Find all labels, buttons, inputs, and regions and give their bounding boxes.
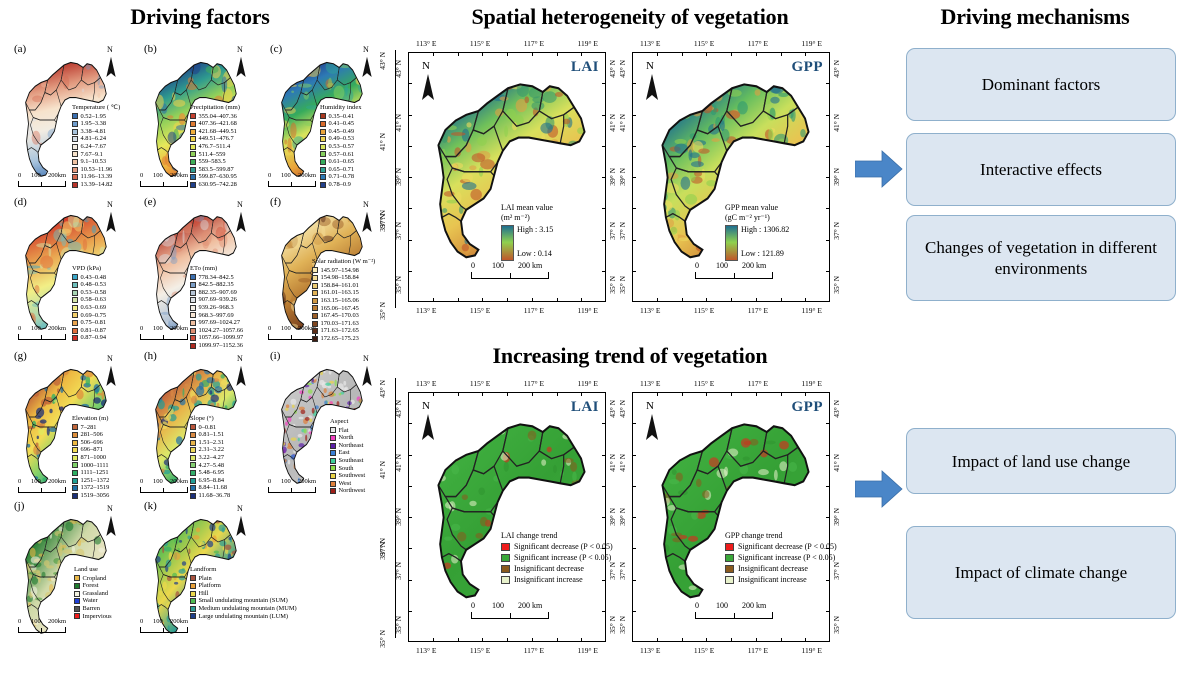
axis-tick bbox=[756, 52, 757, 56]
axis-tick bbox=[826, 208, 830, 209]
legend-label: 506–696 bbox=[81, 439, 103, 447]
scale-bar: 0100200km bbox=[268, 325, 316, 340]
north-arrow-icon: N bbox=[104, 357, 118, 387]
legend-swatch bbox=[72, 335, 78, 341]
legend-label: 0.43–0.48 bbox=[81, 274, 107, 282]
north-arrow-icon: N bbox=[234, 48, 248, 78]
legend-label: 778.34–842.5 bbox=[199, 274, 234, 282]
scale-bar-ruler bbox=[18, 181, 66, 187]
legend-swatch bbox=[190, 282, 196, 288]
big-map-gpp_mean: GPPNGPP mean value(gC m⁻² yr⁻¹)High : 13… bbox=[632, 52, 830, 302]
legend-row: 10.53–11.96 bbox=[72, 166, 120, 174]
legend-swatch bbox=[330, 465, 336, 471]
lon-tick: 113° E bbox=[416, 39, 436, 48]
north-arrow-icon: N bbox=[360, 357, 374, 387]
legend-swatch bbox=[72, 167, 78, 173]
lat-tick: 37° N bbox=[609, 222, 617, 240]
legend-swatch bbox=[72, 159, 78, 165]
legend-label: Significant increase (P < 0.05) bbox=[738, 553, 835, 563]
legend-title: Slope (°) bbox=[190, 415, 230, 423]
axis-tick bbox=[731, 392, 732, 396]
legend-row: Plain bbox=[190, 575, 297, 583]
lat-tick: 43° N bbox=[833, 60, 841, 78]
scale-bar-labels: 0100200km bbox=[18, 618, 66, 626]
figure-canvas: Driving factors Spatial heterogeneity of… bbox=[0, 0, 1199, 674]
lat-tick: 35° N bbox=[379, 302, 387, 320]
scale-label: 200km bbox=[48, 325, 66, 332]
lon-tick: 115° E bbox=[694, 379, 714, 388]
scale-tick bbox=[41, 335, 42, 339]
scale-tick bbox=[291, 488, 292, 492]
legend-row: 170.03–171.63 bbox=[312, 320, 375, 328]
longitude-axis-top-lai_mean: 113° E115° E117° E119° E bbox=[416, 39, 598, 48]
legend-row: Water bbox=[74, 597, 112, 605]
lat-tick: 35° N bbox=[619, 616, 627, 634]
scale-bar-labels: 0100200km bbox=[268, 478, 316, 486]
legend-label: 939.26–968.3 bbox=[199, 304, 234, 312]
north-arrow-icon: N bbox=[419, 63, 437, 101]
legend-row: 907.69–939.26 bbox=[190, 296, 243, 304]
legend-swatch bbox=[190, 440, 196, 446]
latitude-axis-left-gpp_trend: 43° N41° N39° N37° N35° N bbox=[619, 400, 627, 634]
legend-swatch bbox=[725, 554, 734, 562]
north-arrow-icon: N bbox=[360, 48, 374, 78]
legend-label: Northwest bbox=[339, 487, 366, 495]
axis-tick bbox=[408, 455, 412, 456]
lat-tick: 39° N bbox=[609, 168, 617, 186]
lon-tick: 119° E bbox=[802, 379, 822, 388]
legend-high-label: High : 3.15 bbox=[517, 225, 553, 235]
panel-tag-j: (j) bbox=[14, 500, 24, 512]
legend-swatch bbox=[190, 159, 196, 165]
axis-tick bbox=[482, 638, 483, 642]
scale-bar: 0100200km bbox=[140, 172, 188, 187]
mechanism-box-2[interactable]: Interactive effects bbox=[906, 133, 1176, 206]
legend-label: 842.5–882.35 bbox=[199, 281, 234, 289]
map-legend: Solar radiation (W m⁻²)145.97–154.98154.… bbox=[312, 258, 375, 343]
lon-tick: 115° E bbox=[470, 646, 490, 655]
heading-spatial-heterogeneity: Spatial heterogeneity of vegetation bbox=[395, 4, 865, 30]
legend-label: Hill bbox=[199, 590, 209, 598]
map-variable-label: LAI bbox=[571, 59, 599, 76]
axis-tick bbox=[826, 548, 830, 549]
legend-swatch bbox=[190, 312, 196, 318]
legend-swatch bbox=[74, 613, 80, 619]
legend-row: Insignificant increase bbox=[501, 574, 613, 585]
scale-bar: 0100200km bbox=[140, 618, 188, 633]
legend-row: East bbox=[330, 449, 365, 457]
legend-row: 1.51–2.31 bbox=[190, 439, 230, 447]
legend-swatch bbox=[72, 424, 78, 430]
legend-gradient bbox=[501, 225, 514, 261]
legend-row: 882.35–907.69 bbox=[190, 289, 243, 297]
legend-label: 559–583.5 bbox=[199, 158, 226, 166]
impact-box-1[interactable]: Impact of land use change bbox=[906, 428, 1176, 494]
scale-label: 0 bbox=[140, 478, 143, 485]
map-legend-gpp_trend: GPP change trendSignificant decrease (P … bbox=[725, 531, 837, 585]
axis-tick bbox=[657, 392, 658, 396]
axis-tick bbox=[532, 52, 533, 56]
lon-tick: 113° E bbox=[416, 379, 436, 388]
north-arrow-label: N bbox=[107, 46, 113, 54]
legend-swatch bbox=[190, 182, 196, 188]
legend-swatch bbox=[190, 328, 196, 334]
map-legend: ETo (mm)778.34–842.5842.5–882.35882.35–9… bbox=[190, 265, 243, 350]
impact-box-2[interactable]: Impact of climate change bbox=[906, 526, 1176, 619]
axis-tick bbox=[632, 240, 636, 241]
map-variable-label: LAI bbox=[571, 399, 599, 416]
legend-swatch bbox=[72, 121, 78, 127]
longitude-axis-top-lai_trend: 113° E115° E117° E119° E bbox=[416, 379, 598, 388]
left-block-lat-axis-bottom: 37° N 35° N bbox=[379, 538, 387, 648]
legend-label: Insignificant increase bbox=[514, 575, 583, 585]
legend-swatch bbox=[320, 144, 326, 150]
legend-label: 871–1000 bbox=[81, 454, 107, 462]
lat-tick: 37° N bbox=[619, 222, 627, 240]
lat-tick: 39° N bbox=[833, 508, 841, 526]
scale-bar-labels: 0100200km bbox=[268, 325, 316, 333]
legend-row: 158.84–161.01 bbox=[312, 282, 375, 290]
legend-swatch bbox=[190, 613, 196, 619]
axis-tick bbox=[706, 638, 707, 642]
axis-tick bbox=[581, 392, 582, 396]
legend-row: 997.69–1024.27 bbox=[190, 319, 243, 327]
legend-swatch bbox=[320, 121, 326, 127]
scale-bar-ruler bbox=[268, 487, 316, 493]
lon-tick: 119° E bbox=[802, 39, 822, 48]
legend-row: 506–696 bbox=[72, 439, 109, 447]
legend-row: 1251–1372 bbox=[72, 477, 109, 485]
legend-swatch bbox=[320, 113, 326, 119]
legend-label: 1519–3056 bbox=[81, 492, 110, 500]
axis-tick bbox=[781, 298, 782, 302]
latitude-axis-right-gpp_trend: 43° N41° N39° N37° N35° N bbox=[833, 400, 841, 634]
scale-bar: 0100200 km bbox=[695, 261, 781, 279]
legend-row: 5.48–6.95 bbox=[190, 469, 230, 477]
axis-tick bbox=[602, 548, 606, 549]
legend-label: 0.63–0.69 bbox=[81, 304, 107, 312]
legend-label: 421.68–449.51 bbox=[199, 128, 237, 136]
scale-label: 100 bbox=[281, 325, 291, 332]
latitude-ticks-left bbox=[408, 392, 412, 642]
legend-label: 1.95–3.38 bbox=[81, 120, 107, 128]
legend-label: 511.4–559 bbox=[199, 151, 226, 159]
legend-row: Southwest bbox=[330, 472, 365, 480]
lat-tick: 35° N bbox=[609, 276, 617, 294]
lat-tick: 37° N bbox=[833, 562, 841, 580]
legend-row: 3.38–4.81 bbox=[72, 128, 120, 136]
lat-tick: 39° N bbox=[609, 508, 617, 526]
latitude-axis-left-lai_trend: 43° N41° N39° N37° N35° N bbox=[395, 400, 403, 634]
legend-label: 0.52–1.95 bbox=[81, 113, 107, 121]
heading-increasing-trend: Increasing trend of vegetation bbox=[430, 343, 830, 369]
legend-swatch bbox=[320, 182, 326, 188]
latitude-axis-right-lai_mean: 43° N41° N39° N37° N35° N bbox=[609, 60, 617, 294]
legend-row: 0.57–0.61 bbox=[320, 151, 362, 159]
legend-swatch bbox=[312, 267, 318, 273]
axis-tick bbox=[557, 392, 558, 396]
legend-label: 0.87–0.94 bbox=[81, 334, 107, 342]
legend-label: 407.36–421.68 bbox=[199, 120, 237, 128]
scale-bar: 0100200km bbox=[268, 172, 316, 187]
axis-tick bbox=[408, 177, 412, 178]
scale-label: 100 bbox=[716, 261, 728, 270]
north-arrow-icon: N bbox=[643, 63, 661, 101]
lat-tick: 35° N bbox=[619, 276, 627, 294]
axis-tick bbox=[826, 146, 830, 147]
legend-row: 172.65–175.23 bbox=[312, 335, 375, 343]
scale-bar-labels: 0100200km bbox=[18, 172, 66, 180]
legend-label: 1.51–2.31 bbox=[199, 439, 225, 447]
mechanism-box-3[interactable]: Changes of vegetation in different envir… bbox=[906, 215, 1176, 301]
scale-bar-ruler bbox=[18, 627, 66, 633]
legend-row: 842.5–882.35 bbox=[190, 281, 243, 289]
scale-label: 100 bbox=[153, 618, 163, 625]
scale-bar-labels: 0100200km bbox=[18, 325, 66, 333]
legend-swatch bbox=[190, 598, 196, 604]
axis-tick bbox=[581, 52, 582, 56]
lat-tick: 41° N bbox=[379, 133, 387, 151]
north-arrow-label: N bbox=[107, 355, 113, 363]
axis-tick bbox=[826, 611, 830, 612]
lon-tick: 119° E bbox=[802, 306, 822, 315]
scale-label: 200km bbox=[298, 478, 316, 485]
longitude-axis-top-gpp_mean: 113° E115° E117° E119° E bbox=[640, 39, 822, 48]
legend-swatch bbox=[312, 290, 318, 296]
axis-tick bbox=[433, 392, 434, 396]
legend-label: 7.67–9.1 bbox=[81, 151, 103, 159]
heading-driving-factors: Driving factors bbox=[70, 4, 330, 30]
legend-label: 0.53–0.57 bbox=[329, 143, 355, 151]
axis-tick bbox=[433, 638, 434, 642]
legend-swatch bbox=[72, 305, 78, 311]
lat-tick: 35° N bbox=[395, 276, 403, 294]
scale-label: 0 bbox=[140, 325, 143, 332]
legend-swatch bbox=[320, 129, 326, 135]
legend-low-label: Low : 121.89 bbox=[741, 249, 789, 259]
lat-tick: 35° N bbox=[395, 616, 403, 634]
legend-row: 6.24–7.67 bbox=[72, 143, 120, 151]
mechanism-box-label: Changes of vegetation in different envir… bbox=[915, 237, 1167, 279]
legend-swatch bbox=[190, 575, 196, 581]
legend-swatch bbox=[190, 290, 196, 296]
legend-swatch bbox=[725, 543, 734, 551]
scale-bar-ruler bbox=[471, 612, 549, 619]
legend-swatch bbox=[725, 576, 734, 584]
axis-tick bbox=[781, 52, 782, 56]
legend-swatch bbox=[501, 543, 510, 551]
legend-title: ETo (mm) bbox=[190, 265, 243, 273]
axis-tick bbox=[408, 611, 412, 612]
scale-label: 0 bbox=[695, 261, 699, 270]
scale-bar: 0100200 km bbox=[471, 261, 557, 279]
legend-swatch bbox=[72, 136, 78, 142]
legend-row: 1057.66–1099.97 bbox=[190, 334, 243, 342]
longitude-ticks-bottom bbox=[408, 638, 606, 642]
lat-tick: 41° N bbox=[609, 114, 617, 132]
lon-tick: 113° E bbox=[640, 646, 660, 655]
axis-tick bbox=[632, 177, 636, 178]
scale-label: 100 bbox=[31, 172, 41, 179]
axis-tick bbox=[408, 146, 412, 147]
legend-label: 0.75–0.81 bbox=[81, 319, 107, 327]
legend-label: 10.53–11.96 bbox=[81, 166, 113, 174]
legend-row: South bbox=[330, 465, 365, 473]
left-block-lat-axis-lower: 43° N 41° N 39° N bbox=[379, 380, 387, 560]
axis-tick bbox=[408, 271, 412, 272]
scale-label: 200km bbox=[170, 618, 188, 625]
legend-gradient-labels: High : 1306.82Low : 121.89 bbox=[741, 225, 789, 259]
axis-tick bbox=[602, 208, 606, 209]
legend-swatch bbox=[72, 320, 78, 326]
lat-tick: 35° N bbox=[833, 616, 841, 634]
scale-label: 200km bbox=[48, 618, 66, 625]
legend-unit: (m² m⁻²) bbox=[501, 213, 553, 223]
lat-tick: 41° N bbox=[609, 454, 617, 472]
legend-title: Elevation (m) bbox=[72, 415, 109, 423]
legend-swatch bbox=[190, 121, 196, 127]
legend-swatch bbox=[312, 275, 318, 281]
axis-tick bbox=[532, 638, 533, 642]
axis-tick bbox=[682, 638, 683, 642]
map-legend: Slope (°)0–0.810.81–1.511.51–2.312.31–3.… bbox=[190, 415, 230, 500]
axis-tick bbox=[408, 423, 412, 424]
legend-label: 0.35–0.41 bbox=[329, 113, 355, 121]
scale-bar-ruler bbox=[695, 612, 773, 619]
legend-swatch bbox=[312, 283, 318, 289]
axis-tick bbox=[602, 146, 606, 147]
legend-swatch bbox=[190, 493, 196, 499]
legend-label: 0.45–0.49 bbox=[329, 128, 355, 136]
axis-tick bbox=[408, 83, 412, 84]
legend-row: Large undulating mountain (LUM) bbox=[190, 613, 297, 621]
scale-label: 0 bbox=[18, 172, 21, 179]
legend-label: 161.01–163.15 bbox=[321, 289, 359, 297]
legend-swatch bbox=[312, 313, 318, 319]
legend-swatch bbox=[320, 136, 326, 142]
longitude-axis-bottom-gpp_mean: 113° E115° E117° E119° E bbox=[640, 306, 822, 315]
legend-unit: (gC m⁻² yr⁻¹) bbox=[725, 213, 789, 223]
mechanism-box-1[interactable]: Dominant factors bbox=[906, 48, 1176, 121]
legend-row: 0.65–0.71 bbox=[320, 166, 362, 174]
legend-row: 154.98–158.84 bbox=[312, 274, 375, 282]
lat-tick: 43° N bbox=[379, 380, 387, 398]
legend-swatch bbox=[190, 129, 196, 135]
legend-label: 165.06–167.45 bbox=[321, 305, 359, 313]
scale-label: 100 bbox=[31, 325, 41, 332]
map-legend-lai_trend: LAI change trendSignificant decrease (P … bbox=[501, 531, 613, 585]
longitude-ticks-bottom bbox=[632, 638, 830, 642]
scale-bar-ruler bbox=[471, 272, 549, 279]
lat-tick: 43° N bbox=[609, 400, 617, 418]
north-arrow-label: N bbox=[107, 505, 113, 513]
legend-label: 1099.97–1152.36 bbox=[199, 342, 244, 350]
scale-bar: 0100200km bbox=[18, 618, 66, 633]
legend-title: Humidity index bbox=[320, 104, 362, 112]
legend-row: 449.51–476.7 bbox=[190, 135, 240, 143]
axis-tick bbox=[731, 638, 732, 642]
north-arrow-label: N bbox=[237, 355, 243, 363]
scale-tick bbox=[734, 613, 735, 618]
axis-tick bbox=[682, 298, 683, 302]
axis-tick bbox=[602, 611, 606, 612]
arrow-to-mechanisms-bottom bbox=[855, 468, 903, 510]
legend-label: 0–0.81 bbox=[199, 424, 217, 432]
lon-tick: 115° E bbox=[694, 39, 714, 48]
legend-label: 4.27–5.48 bbox=[199, 462, 225, 470]
legend-row: 0–0.81 bbox=[190, 424, 230, 432]
legend-swatch bbox=[190, 113, 196, 119]
legend-label: 158.84–161.01 bbox=[321, 282, 359, 290]
axis-tick bbox=[581, 298, 582, 302]
scale-bar-labels: 0100200km bbox=[140, 618, 188, 626]
axis-tick bbox=[706, 52, 707, 56]
legend-label: 0.78–0.9 bbox=[329, 181, 351, 189]
legend-swatch bbox=[74, 583, 80, 589]
axis-tick bbox=[826, 115, 830, 116]
scale-bar-labels: 0100200km bbox=[268, 172, 316, 180]
axis-tick bbox=[602, 240, 606, 241]
scale-label: 0 bbox=[18, 618, 21, 625]
legend-swatch bbox=[72, 312, 78, 318]
legend-title: Land use bbox=[74, 566, 112, 574]
axis-tick bbox=[507, 392, 508, 396]
legend-swatch bbox=[501, 565, 510, 573]
longitude-axis-bottom-lai_trend: 113° E115° E117° E119° E bbox=[416, 646, 598, 655]
legend-title: Temperature ( ℃) bbox=[72, 104, 120, 112]
legend-row: 0.52–1.95 bbox=[72, 113, 120, 121]
lat-tick: 43° N bbox=[395, 60, 403, 78]
legend-row: 407.36–421.68 bbox=[190, 120, 240, 128]
scale-bar-ruler bbox=[18, 334, 66, 340]
axis-tick bbox=[557, 52, 558, 56]
lon-tick: 119° E bbox=[578, 39, 598, 48]
north-arrow-label: N bbox=[646, 400, 654, 412]
axis-tick bbox=[458, 392, 459, 396]
legend-row: 0.45–0.49 bbox=[320, 128, 362, 136]
legend-title: GPP change trend bbox=[725, 531, 837, 541]
scale-label: 0 bbox=[18, 325, 21, 332]
scale-bar-ruler bbox=[140, 627, 188, 633]
legend-label: Water bbox=[83, 597, 98, 605]
lat-tick: 43° N bbox=[619, 60, 627, 78]
legend-row: 0.81–1.51 bbox=[190, 431, 230, 439]
axis-tick bbox=[826, 177, 830, 178]
legend-row: 9.1–10.53 bbox=[72, 158, 120, 166]
axis-tick bbox=[602, 423, 606, 424]
legend-label: Insignificant decrease bbox=[738, 564, 808, 574]
legend-row: 167.45–170.03 bbox=[312, 312, 375, 320]
panel-tag-d: (d) bbox=[14, 196, 27, 208]
legend-label: 172.65–175.23 bbox=[321, 335, 359, 343]
axis-tick bbox=[602, 455, 606, 456]
axis-tick bbox=[602, 115, 606, 116]
legend-row: Southeast bbox=[330, 457, 365, 465]
legend-swatch bbox=[312, 328, 318, 334]
map-legend: Humidity index0.35–0.410.41–0.450.45–0.4… bbox=[320, 104, 362, 189]
lat-tick: 37° N bbox=[609, 562, 617, 580]
axis-tick bbox=[632, 455, 636, 456]
legend-swatch bbox=[312, 305, 318, 311]
legend-label: 1251–1372 bbox=[81, 477, 110, 485]
map-legend: Elevation (m)7–281281–506506–696696–8718… bbox=[72, 415, 109, 500]
legend-label: Grassland bbox=[83, 590, 109, 598]
scale-tick bbox=[163, 488, 164, 492]
scale-label: 0 bbox=[471, 261, 475, 270]
axis-tick bbox=[507, 298, 508, 302]
legend-gradient bbox=[725, 225, 738, 261]
axis-tick bbox=[602, 83, 606, 84]
